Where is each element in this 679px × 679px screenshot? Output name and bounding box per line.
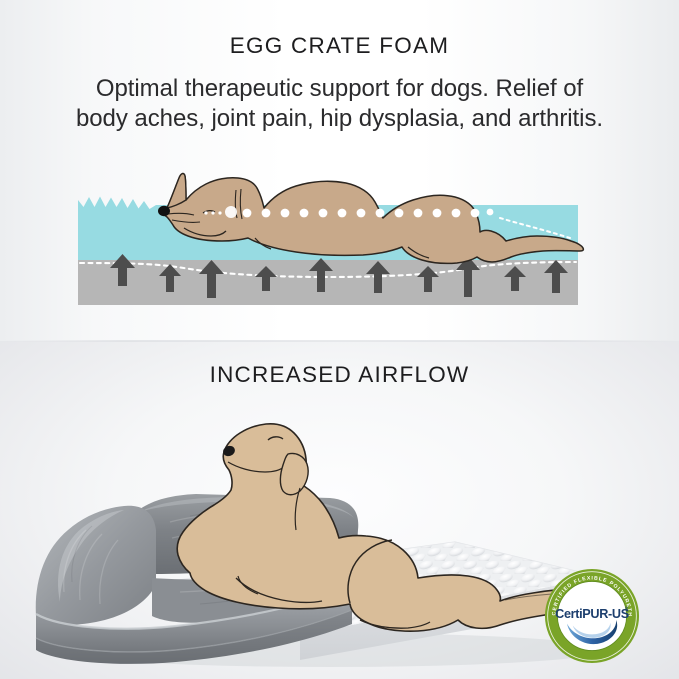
badge-brand-text: CertiPUR-US: [555, 607, 629, 621]
infographic-page: EGG CRATE FOAM Optimal therapeutic suppo…: [0, 0, 679, 679]
panel-divider: [0, 340, 679, 342]
subtitle-line-1: Optimal therapeutic support for dogs. Re…: [22, 74, 657, 104]
top-section-title: EGG CRATE FOAM: [0, 33, 679, 59]
bottom-section-title: INCREASED AIRFLOW: [0, 362, 679, 388]
subtitle-line-2: body aches, joint pain, hip dysplasia, a…: [22, 104, 657, 134]
egg-crate-cross-section-illustration: [0, 150, 679, 330]
dog-nose: [158, 206, 170, 216]
certipur-us-seal: CONTAINS CERTIFIED FLEXIBLE POLYURETHANE…: [544, 568, 640, 664]
top-section-subtitle: Optimal therapeutic support for dogs. Re…: [22, 74, 657, 134]
